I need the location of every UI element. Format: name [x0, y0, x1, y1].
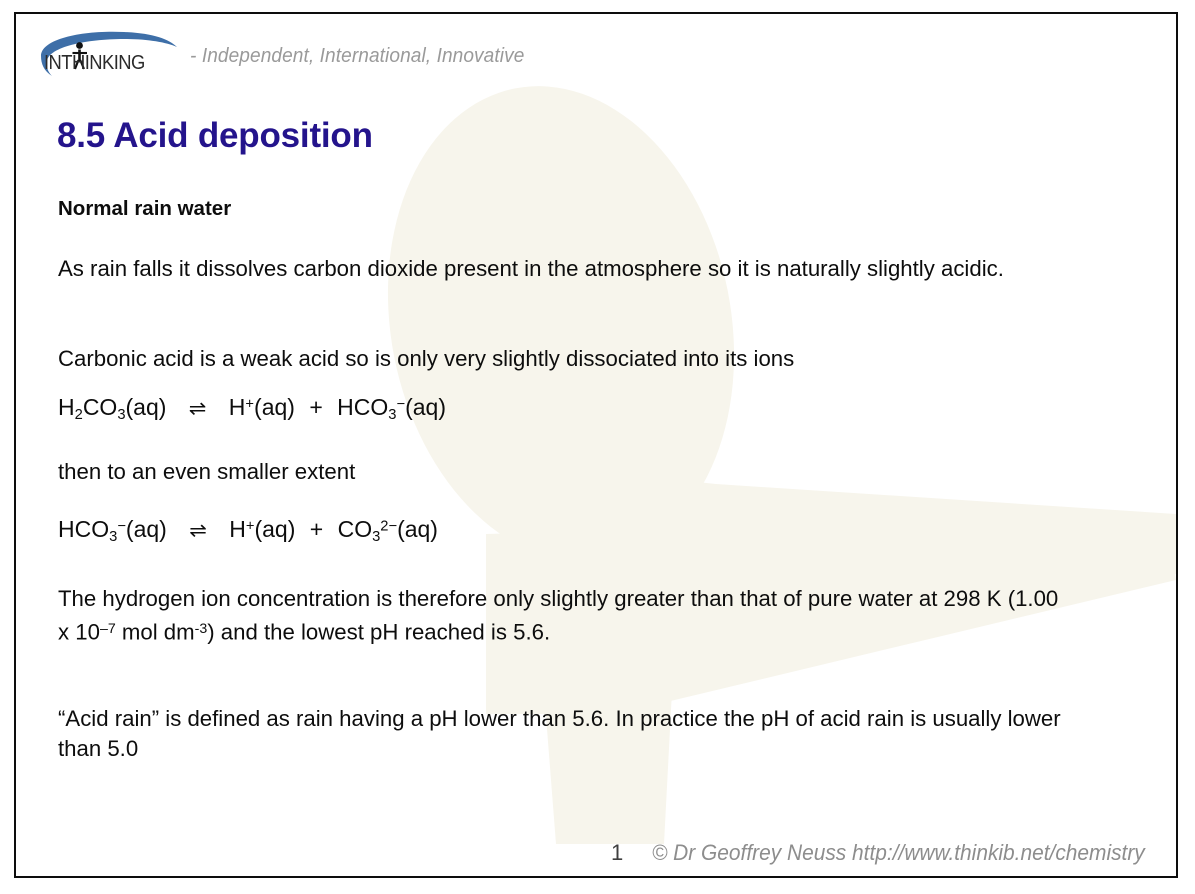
equation-1-reactant: H2CO3(aq) — [58, 394, 166, 420]
slide-canvas: INTHINKING - Independent, International,… — [0, 0, 1195, 894]
logo-tagline: - Independent, International, Innovative — [190, 44, 524, 68]
header: INTHINKING - Independent, International,… — [34, 28, 550, 84]
equation-1-equilibrium-arrow: ⇌ — [187, 397, 209, 420]
slide-frame: INTHINKING - Independent, International,… — [14, 12, 1178, 878]
equation-2-reactant: HCO3−(aq) — [58, 516, 167, 542]
equation-2-product-carbonate: CO32−(aq) — [338, 516, 438, 542]
paragraph-rain-dissolves-co2: As rain falls it dissolves carbon dioxid… — [58, 254, 1068, 284]
paragraph-acid-rain-definition: “Acid rain” is defined as rain having a … — [58, 704, 1068, 764]
inthinking-logo[interactable]: INTHINKING — [34, 30, 180, 82]
equation-bicarbonate-dissociation: HCO3−(aq) ⇌ H+(aq) + CO32−(aq) — [58, 511, 438, 552]
page-number: 1 — [611, 840, 623, 866]
equation-1-product-bicarbonate: HCO3−(aq) — [337, 394, 446, 420]
equation-1-plus: + — [309, 394, 322, 420]
paragraph-carbonic-acid-weak: Carbonic acid is a weak acid so is only … — [58, 344, 1068, 374]
equation-1-product-h-ion: H+(aq) — [229, 394, 295, 420]
copyright-credit: © Dr Geoffrey Neuss http://www.thinkib.n… — [652, 840, 1145, 866]
section-subheading: Normal rain water — [58, 194, 1068, 224]
footer: 1 © Dr Geoffrey Neuss http://www.thinkib… — [16, 840, 1178, 866]
paragraph-even-smaller-extent: then to an even smaller extent — [58, 457, 1068, 487]
paragraph-4-text-b: mol dm — [116, 619, 195, 644]
equation-2-equilibrium-arrow: ⇌ — [187, 519, 209, 542]
paragraph-4-text-c: ) and the lowest pH reached is 5.6. — [207, 619, 550, 644]
logo-wordmark: INTHINKING — [44, 52, 145, 75]
page-title: 8.5 Acid deposition — [57, 116, 373, 156]
equation-2-plus: + — [310, 516, 323, 542]
equation-carbonic-acid-dissociation: H2CO3(aq) ⇌ H+(aq) + HCO3−(aq) — [58, 389, 446, 430]
paragraph-4-exponent-2: -3 — [195, 621, 208, 637]
paragraph-4-exponent-1: –7 — [100, 621, 116, 637]
equation-2-product-h-ion: H+(aq) — [229, 516, 295, 542]
paragraph-hydrogen-ion-concentration: The hydrogen ion concentration is theref… — [58, 584, 1068, 647]
